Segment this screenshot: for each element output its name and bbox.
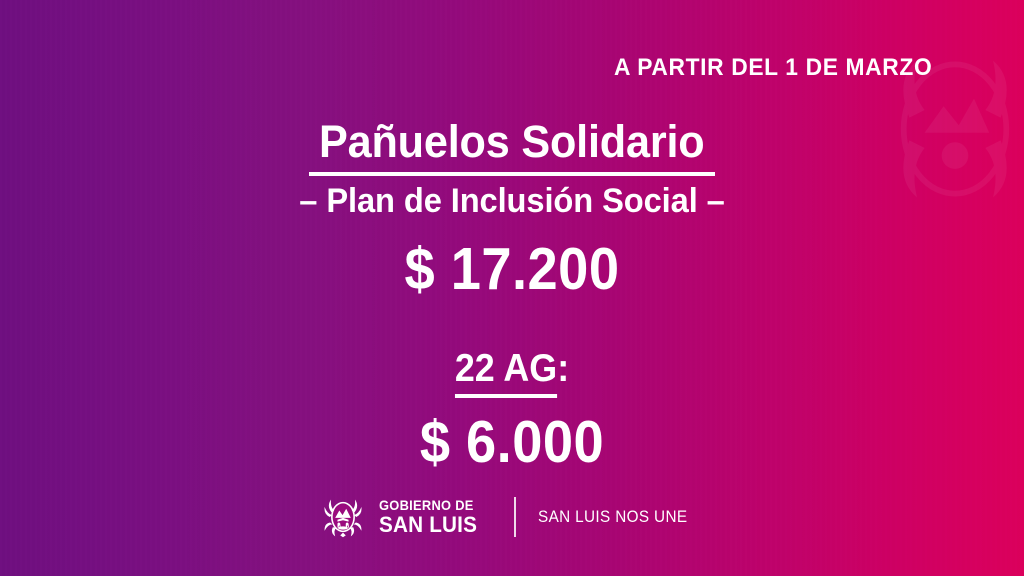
footer-branding: GOBIERNO DE SAN LUIS SAN LUIS NOS UNE xyxy=(0,494,1024,540)
footer-divider xyxy=(514,497,516,537)
amount-secondary: $ 6.000 xyxy=(41,413,983,472)
amount-primary: $ 17.200 xyxy=(41,240,983,299)
gov-line-gobierno-de: GOBIERNO DE xyxy=(379,498,477,512)
promo-poster: A PARTIR DEL 1 DE MARZO Pañuelos Solidar… xyxy=(0,0,1024,576)
title-block: Pañuelos Solidario xyxy=(309,118,715,176)
page-title: Pañuelos Solidario xyxy=(319,118,704,166)
page-subtitle: – Plan de Inclusión Social – xyxy=(20,183,1003,220)
section-label-colon: : xyxy=(557,347,569,390)
footer-tagline: SAN LUIS NOS UNE xyxy=(538,507,687,527)
government-wordmark: GOBIERNO DE SAN LUIS xyxy=(379,498,486,537)
section-label-text: 22 AG xyxy=(455,347,557,398)
promo-kicker: A PARTIR DEL 1 DE MARZO xyxy=(614,56,932,81)
section-label-row: 22 AG: xyxy=(41,349,983,388)
gov-line-san-luis: SAN LUIS xyxy=(379,514,477,537)
san-luis-coat-of-arms-icon xyxy=(320,494,366,540)
main-content-stack: Pañuelos Solidario – Plan de Inclusión S… xyxy=(0,118,1024,472)
